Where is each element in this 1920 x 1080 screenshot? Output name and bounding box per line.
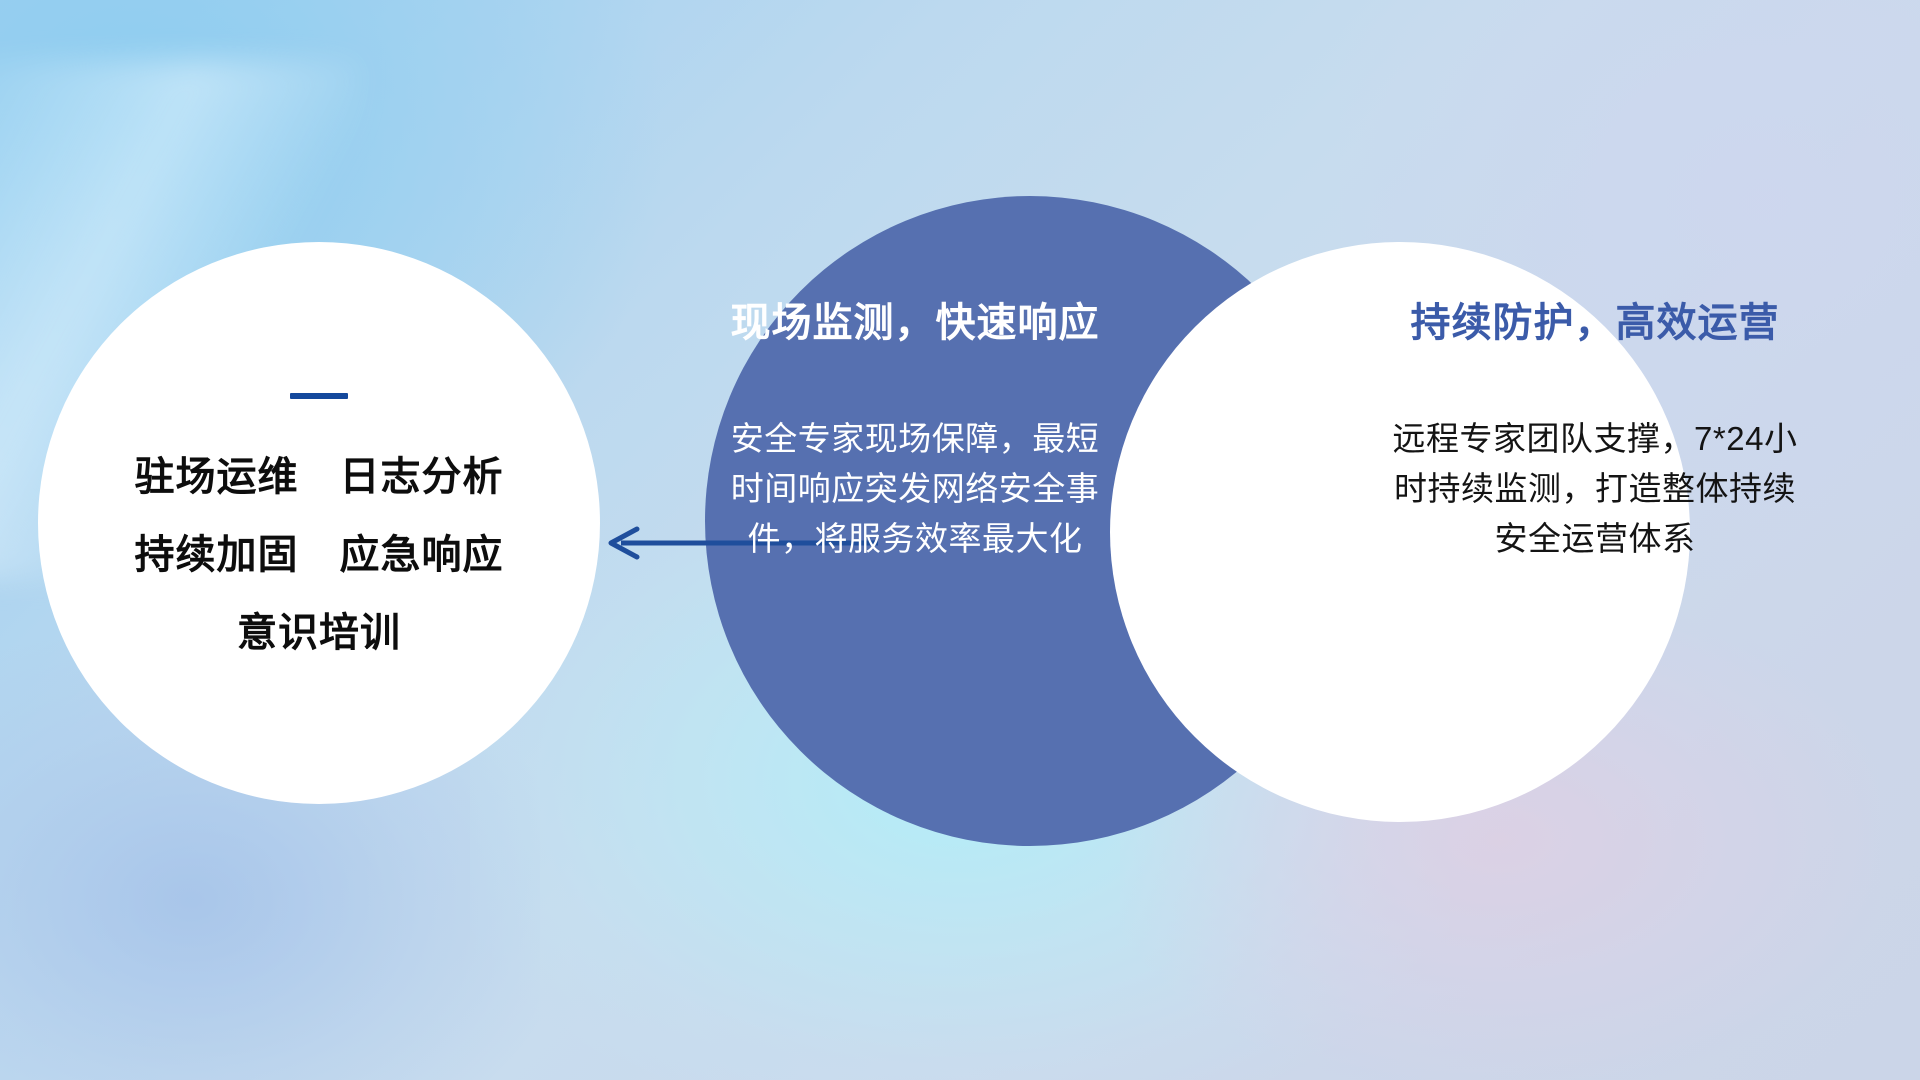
right-circle-body: 远程专家团队支撑，7*24小时持续监测，打造整体持续安全运营体系 [1380,414,1810,564]
middle-circle-content: 现场监测，快速响应 安全专家现场保障，最短时间响应突发网络安全事件，将服务效率最… [700,300,1130,564]
left-circle-content: 驻场运维 日志分析 持续加固 应急响应 意识培训 [38,242,600,804]
middle-circle-title: 现场监测，快速响应 [700,300,1130,346]
right-circle-content: 持续防护，高效运营 远程专家团队支撑，7*24小时持续监测，打造整体持续安全运营… [1380,300,1810,564]
right-circle-title: 持续防护，高效运营 [1380,300,1810,346]
middle-circle-body: 安全专家现场保障，最短时间响应突发网络安全事件，将服务效率最大化 [700,414,1130,564]
left-service-line-1: 驻场运维 日志分析 [135,457,504,497]
left-service-line-2: 持续加固 应急响应 [135,535,504,575]
blue-dash-divider [290,393,348,399]
left-service-line-3: 意识培训 [237,613,401,653]
slide-canvas: 驻场运维 日志分析 持续加固 应急响应 意识培训 现场监测，快速响应 安全专家现… [0,0,1920,1080]
